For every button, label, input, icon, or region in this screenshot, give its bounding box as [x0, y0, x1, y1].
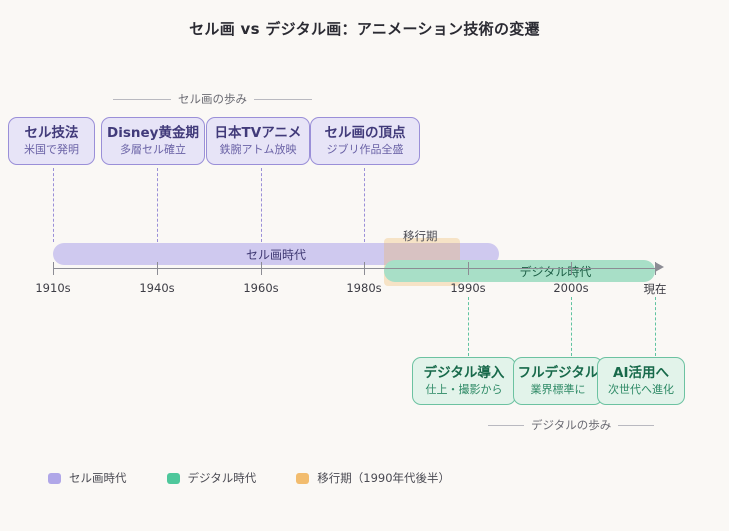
axis-arrow-icon [655, 262, 664, 272]
digital-caption-rule-left [488, 425, 524, 426]
legend-swatch-digital [167, 473, 180, 484]
axis-tick-4 [468, 262, 469, 275]
connector-digital-0 [468, 297, 469, 356]
page-title: セル画 vs デジタル画：アニメーション技術の変遷 [0, 18, 729, 39]
cel-card-0-title: セル技法 [9, 125, 94, 142]
digital-card-0[interactable]: デジタル導入 仕上・撮影から [412, 357, 516, 405]
axis-tick-label-4: 1990s [450, 281, 485, 295]
cel-card-1-title: Disney黄金期 [102, 125, 204, 142]
axis-tick-1 [157, 262, 158, 275]
cel-card-1-subtitle: 多層セル確立 [102, 142, 204, 158]
digital-card-0-subtitle: 仕上・撮影から [413, 382, 515, 398]
connector-cel-0 [53, 168, 54, 242]
digital-card-1-title: フルデジタル [514, 365, 602, 382]
legend-item-transition: 移行期（1990年代後半） [296, 470, 450, 486]
cel-card-0[interactable]: セル技法 米国で発明 [8, 117, 95, 165]
caption-rule-right [254, 99, 312, 100]
connector-digital-1 [571, 297, 572, 356]
cel-era-bar-label: セル画時代 [246, 246, 306, 263]
digital-section-caption: デジタルの歩み [488, 417, 654, 433]
axis-tick-6 [655, 262, 656, 275]
axis-tick-label-3: 1980s [346, 281, 381, 295]
axis-tick-0 [53, 262, 54, 275]
legend-label-transition: 移行期（1990年代後半） [317, 470, 450, 486]
transition-label: 移行期 [403, 228, 438, 244]
cel-section-caption: セル画の歩み [113, 91, 312, 107]
digital-era-bar-label: デジタル時代 [520, 263, 592, 280]
cel-card-2[interactable]: 日本TVアニメ 鉄腕アトム放映 [206, 117, 310, 165]
cel-card-1[interactable]: Disney黄金期 多層セル確立 [101, 117, 205, 165]
axis-tick-3 [364, 262, 365, 275]
timeline-axis [53, 268, 655, 269]
axis-tick-5 [571, 262, 572, 275]
axis-tick-label-1: 1940s [139, 281, 174, 295]
cel-card-3[interactable]: セル画の頂点 ジブリ作品全盛 [310, 117, 420, 165]
legend-swatch-transition [296, 473, 309, 484]
cel-section-caption-label: セル画の歩み [178, 91, 247, 107]
legend-item-digital: デジタル時代 [167, 470, 257, 486]
connector-cel-3 [364, 168, 365, 242]
axis-tick-label-2: 1960s [243, 281, 278, 295]
legend: セル画時代 デジタル時代 移行期（1990年代後半） [48, 470, 450, 486]
digital-caption-rule-right [618, 425, 654, 426]
legend-label-digital: デジタル時代 [188, 470, 257, 486]
connector-cel-2 [261, 168, 262, 242]
digital-card-0-title: デジタル導入 [413, 365, 515, 382]
caption-rule-left [113, 99, 171, 100]
cel-card-0-subtitle: 米国で発明 [9, 142, 94, 158]
axis-tick-2 [261, 262, 262, 275]
legend-label-cel: セル画時代 [69, 470, 127, 486]
legend-item-cel: セル画時代 [48, 470, 127, 486]
connector-cel-1 [157, 168, 158, 242]
axis-tick-label-6: 現在 [644, 281, 667, 297]
axis-tick-label-5: 2000s [553, 281, 588, 295]
digital-card-2-title: AI活用へ [598, 365, 684, 382]
cel-card-3-title: セル画の頂点 [311, 125, 419, 142]
digital-era-bar: デジタル時代 [384, 260, 655, 282]
legend-swatch-cel [48, 473, 61, 484]
digital-card-1-subtitle: 業界標準に [514, 382, 602, 398]
digital-card-2[interactable]: AI活用へ 次世代へ進化 [597, 357, 685, 405]
digital-section-caption-label: デジタルの歩み [531, 417, 611, 433]
axis-tick-label-0: 1910s [35, 281, 70, 295]
digital-card-2-subtitle: 次世代へ進化 [598, 382, 684, 398]
digital-card-1[interactable]: フルデジタル 業界標準に [513, 357, 603, 405]
cel-card-2-title: 日本TVアニメ [207, 125, 309, 142]
cel-card-3-subtitle: ジブリ作品全盛 [311, 142, 419, 158]
cel-card-2-subtitle: 鉄腕アトム放映 [207, 142, 309, 158]
connector-digital-2 [655, 297, 656, 356]
